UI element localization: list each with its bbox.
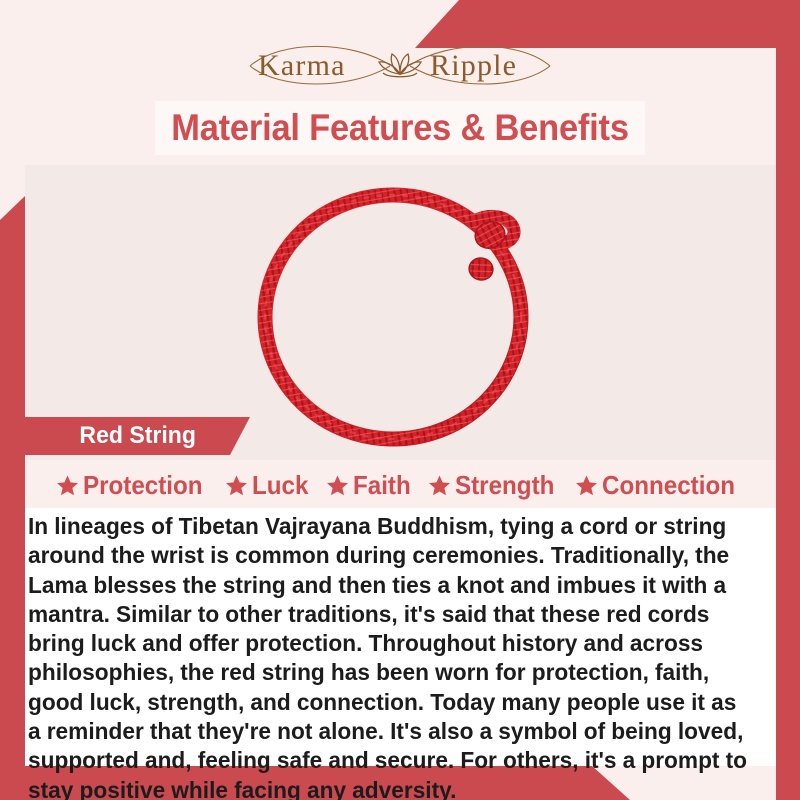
benefit-item: Protection: [56, 470, 212, 501]
description-text: In lineages of Tibetan Vajrayana Buddhis…: [28, 512, 750, 800]
logo-svg: Karma Ripple: [240, 36, 560, 94]
star-icon: [56, 474, 79, 497]
page-title-band: Material Features & Benefits: [155, 101, 645, 155]
benefit-label: Protection: [83, 470, 203, 501]
product-image-panel: [25, 165, 776, 460]
decorative-band-right: [776, 48, 800, 800]
benefit-item: Strength: [428, 470, 562, 501]
benefit-item: Connection: [575, 470, 745, 501]
benefit-label: Connection: [602, 470, 735, 501]
material-ribbon: Red String: [25, 417, 250, 455]
benefit-item: Faith: [326, 470, 415, 501]
svg-text:Ripple: Ripple: [430, 49, 517, 82]
material-ribbon-label: Red String: [79, 422, 195, 450]
benefit-label: Strength: [455, 470, 554, 501]
infographic-page: Karma Ripple Material Features & Benefit…: [0, 0, 800, 800]
benefits-row: Protection Luck Faith Strength Connectio: [25, 462, 776, 508]
star-icon: [428, 474, 451, 497]
star-icon: [575, 474, 598, 497]
brand-logo: Karma Ripple: [0, 36, 800, 94]
product-image: [241, 165, 561, 460]
lotus-flower-icon: [379, 54, 421, 77]
benefit-item: Luck: [225, 470, 313, 501]
svg-text:Karma: Karma: [258, 49, 346, 82]
benefit-label: Luck: [252, 470, 308, 501]
star-icon: [225, 474, 248, 497]
description-panel: In lineages of Tibetan Vajrayana Buddhis…: [25, 508, 776, 766]
red-string-bracelet-illustration: [241, 165, 561, 460]
page-title: Material Features & Benefits: [171, 107, 629, 149]
star-icon: [326, 474, 349, 497]
benefit-label: Faith: [353, 470, 411, 501]
decorative-band-left: [0, 196, 25, 800]
